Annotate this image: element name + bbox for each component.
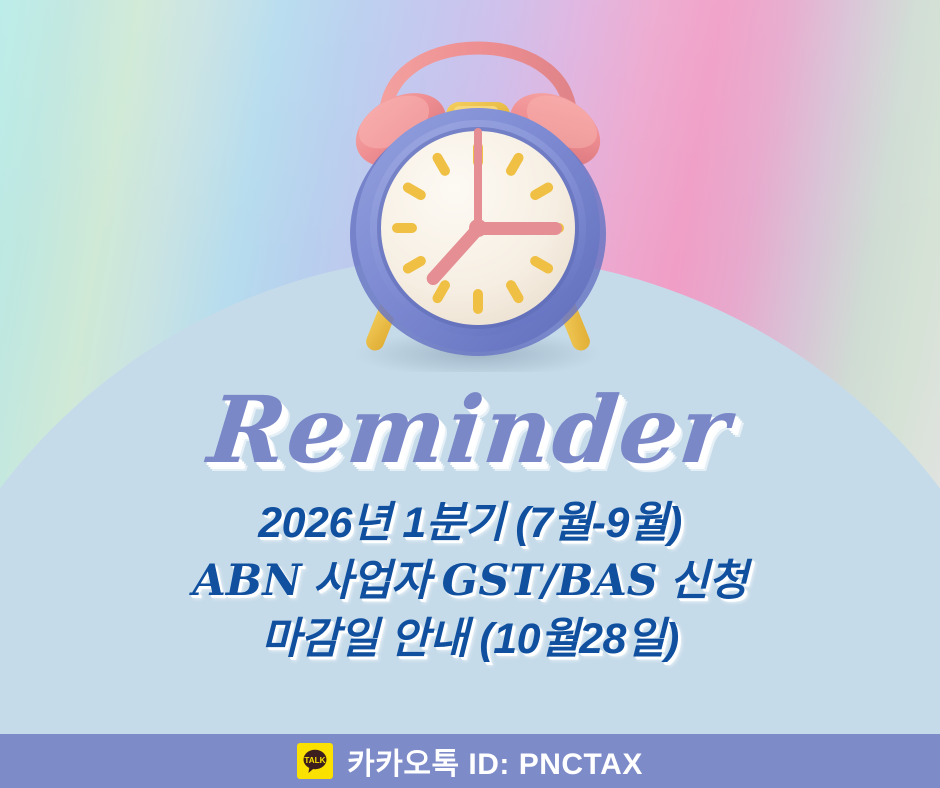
footer-bar: TALK 카카오톡 ID: PNCTAX	[0, 734, 940, 788]
kakaotalk-icon-label: TALK	[305, 756, 326, 765]
alarm-clock-icon	[328, 22, 628, 372]
headline-line-1: 2026년 1분기 (7월-9월)	[0, 494, 940, 552]
line2-tail: 신청	[658, 557, 748, 605]
page-title: Reminder	[0, 378, 940, 482]
clock-center-pin	[469, 219, 487, 237]
poster-canvas: Reminder 2026년 1분기 (7월-9월) ABN 사업자 GST/B…	[0, 0, 940, 788]
abn-label: ABN	[193, 556, 302, 606]
headline-line-2: ABN 사업자 GST/BAS 신청	[0, 552, 940, 610]
gst-bas-label: GST/BAS	[442, 556, 658, 606]
kakaotalk-id-text: 카카오톡 ID: PNCTAX	[347, 739, 643, 783]
kakaotalk-icon[interactable]: TALK	[297, 743, 333, 779]
headline-line-3: 마감일 안내 (10월28일)	[0, 610, 940, 668]
headline-block: Reminder 2026년 1분기 (7월-9월) ABN 사업자 GST/B…	[0, 378, 940, 668]
line2-mid: 사업자	[302, 557, 442, 605]
clock-minute-hand	[476, 222, 562, 235]
clock-second-hand	[474, 128, 482, 232]
